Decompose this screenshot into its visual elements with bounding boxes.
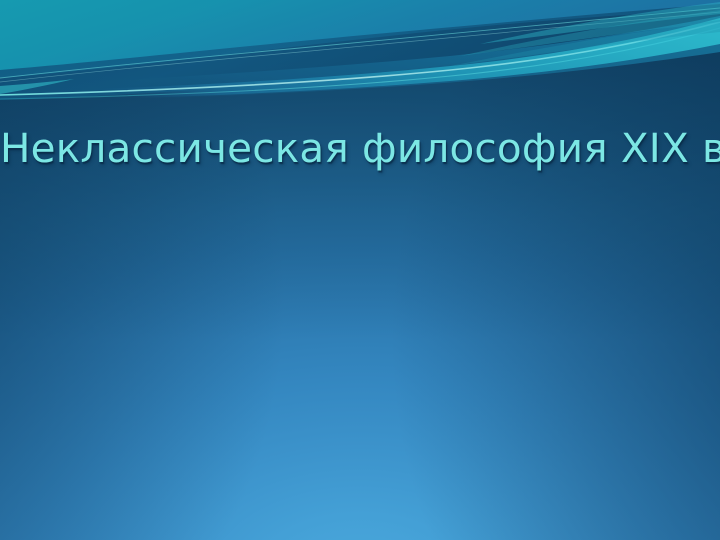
slide-title: Неклассическая философия XIX в. <box>0 122 720 174</box>
title-placeholder: Неклассическая философия XIX в. <box>0 122 720 174</box>
presentation-slide: Неклассическая философия XIX в. <box>0 0 720 540</box>
slide-background-right-vignette <box>0 0 720 540</box>
